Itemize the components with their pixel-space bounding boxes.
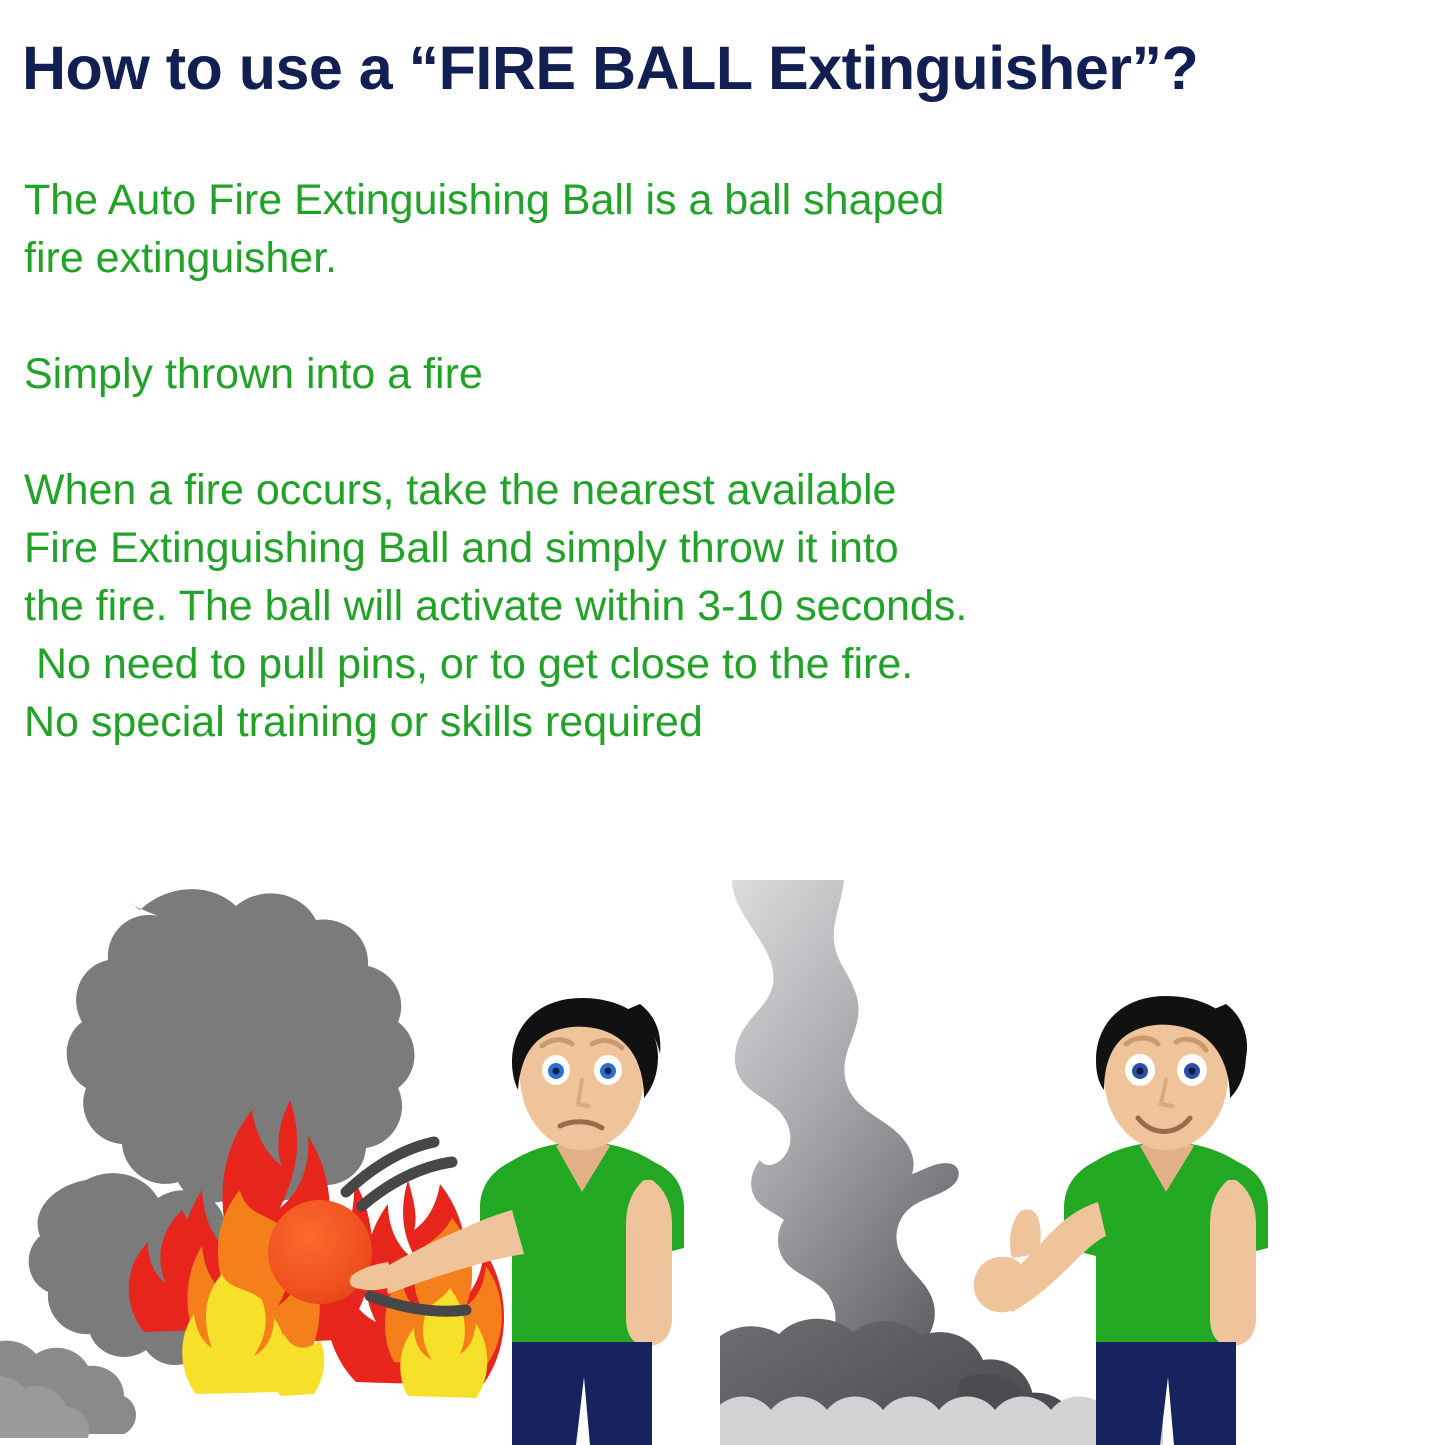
slide-page: How to use a “FIRE BALL Extinguisher”? T… bbox=[0, 0, 1445, 1445]
fire-ball-icon bbox=[268, 1200, 372, 1304]
pants-navy bbox=[1096, 1342, 1236, 1445]
paragraph-simply-thrown: Simply thrown into a fire bbox=[24, 345, 483, 403]
illustration-row bbox=[0, 880, 1445, 1445]
thumb-up bbox=[1010, 1210, 1041, 1259]
page-title: How to use a “FIRE BALL Extinguisher”? bbox=[22, 36, 1198, 100]
left-fist bbox=[974, 1257, 1029, 1313]
right-arm bbox=[626, 1180, 672, 1346]
scene-throwing-ball-into-fire bbox=[0, 880, 710, 1445]
paragraph-intro: The Auto Fire Extinguishing Ball is a ba… bbox=[24, 171, 944, 287]
right-arm bbox=[1210, 1180, 1256, 1346]
scene-fire-extinguished bbox=[720, 880, 1445, 1445]
paragraph-when-fire-occurs: When a fire occurs, take the nearest ava… bbox=[24, 461, 967, 751]
pants-navy bbox=[512, 1342, 652, 1445]
